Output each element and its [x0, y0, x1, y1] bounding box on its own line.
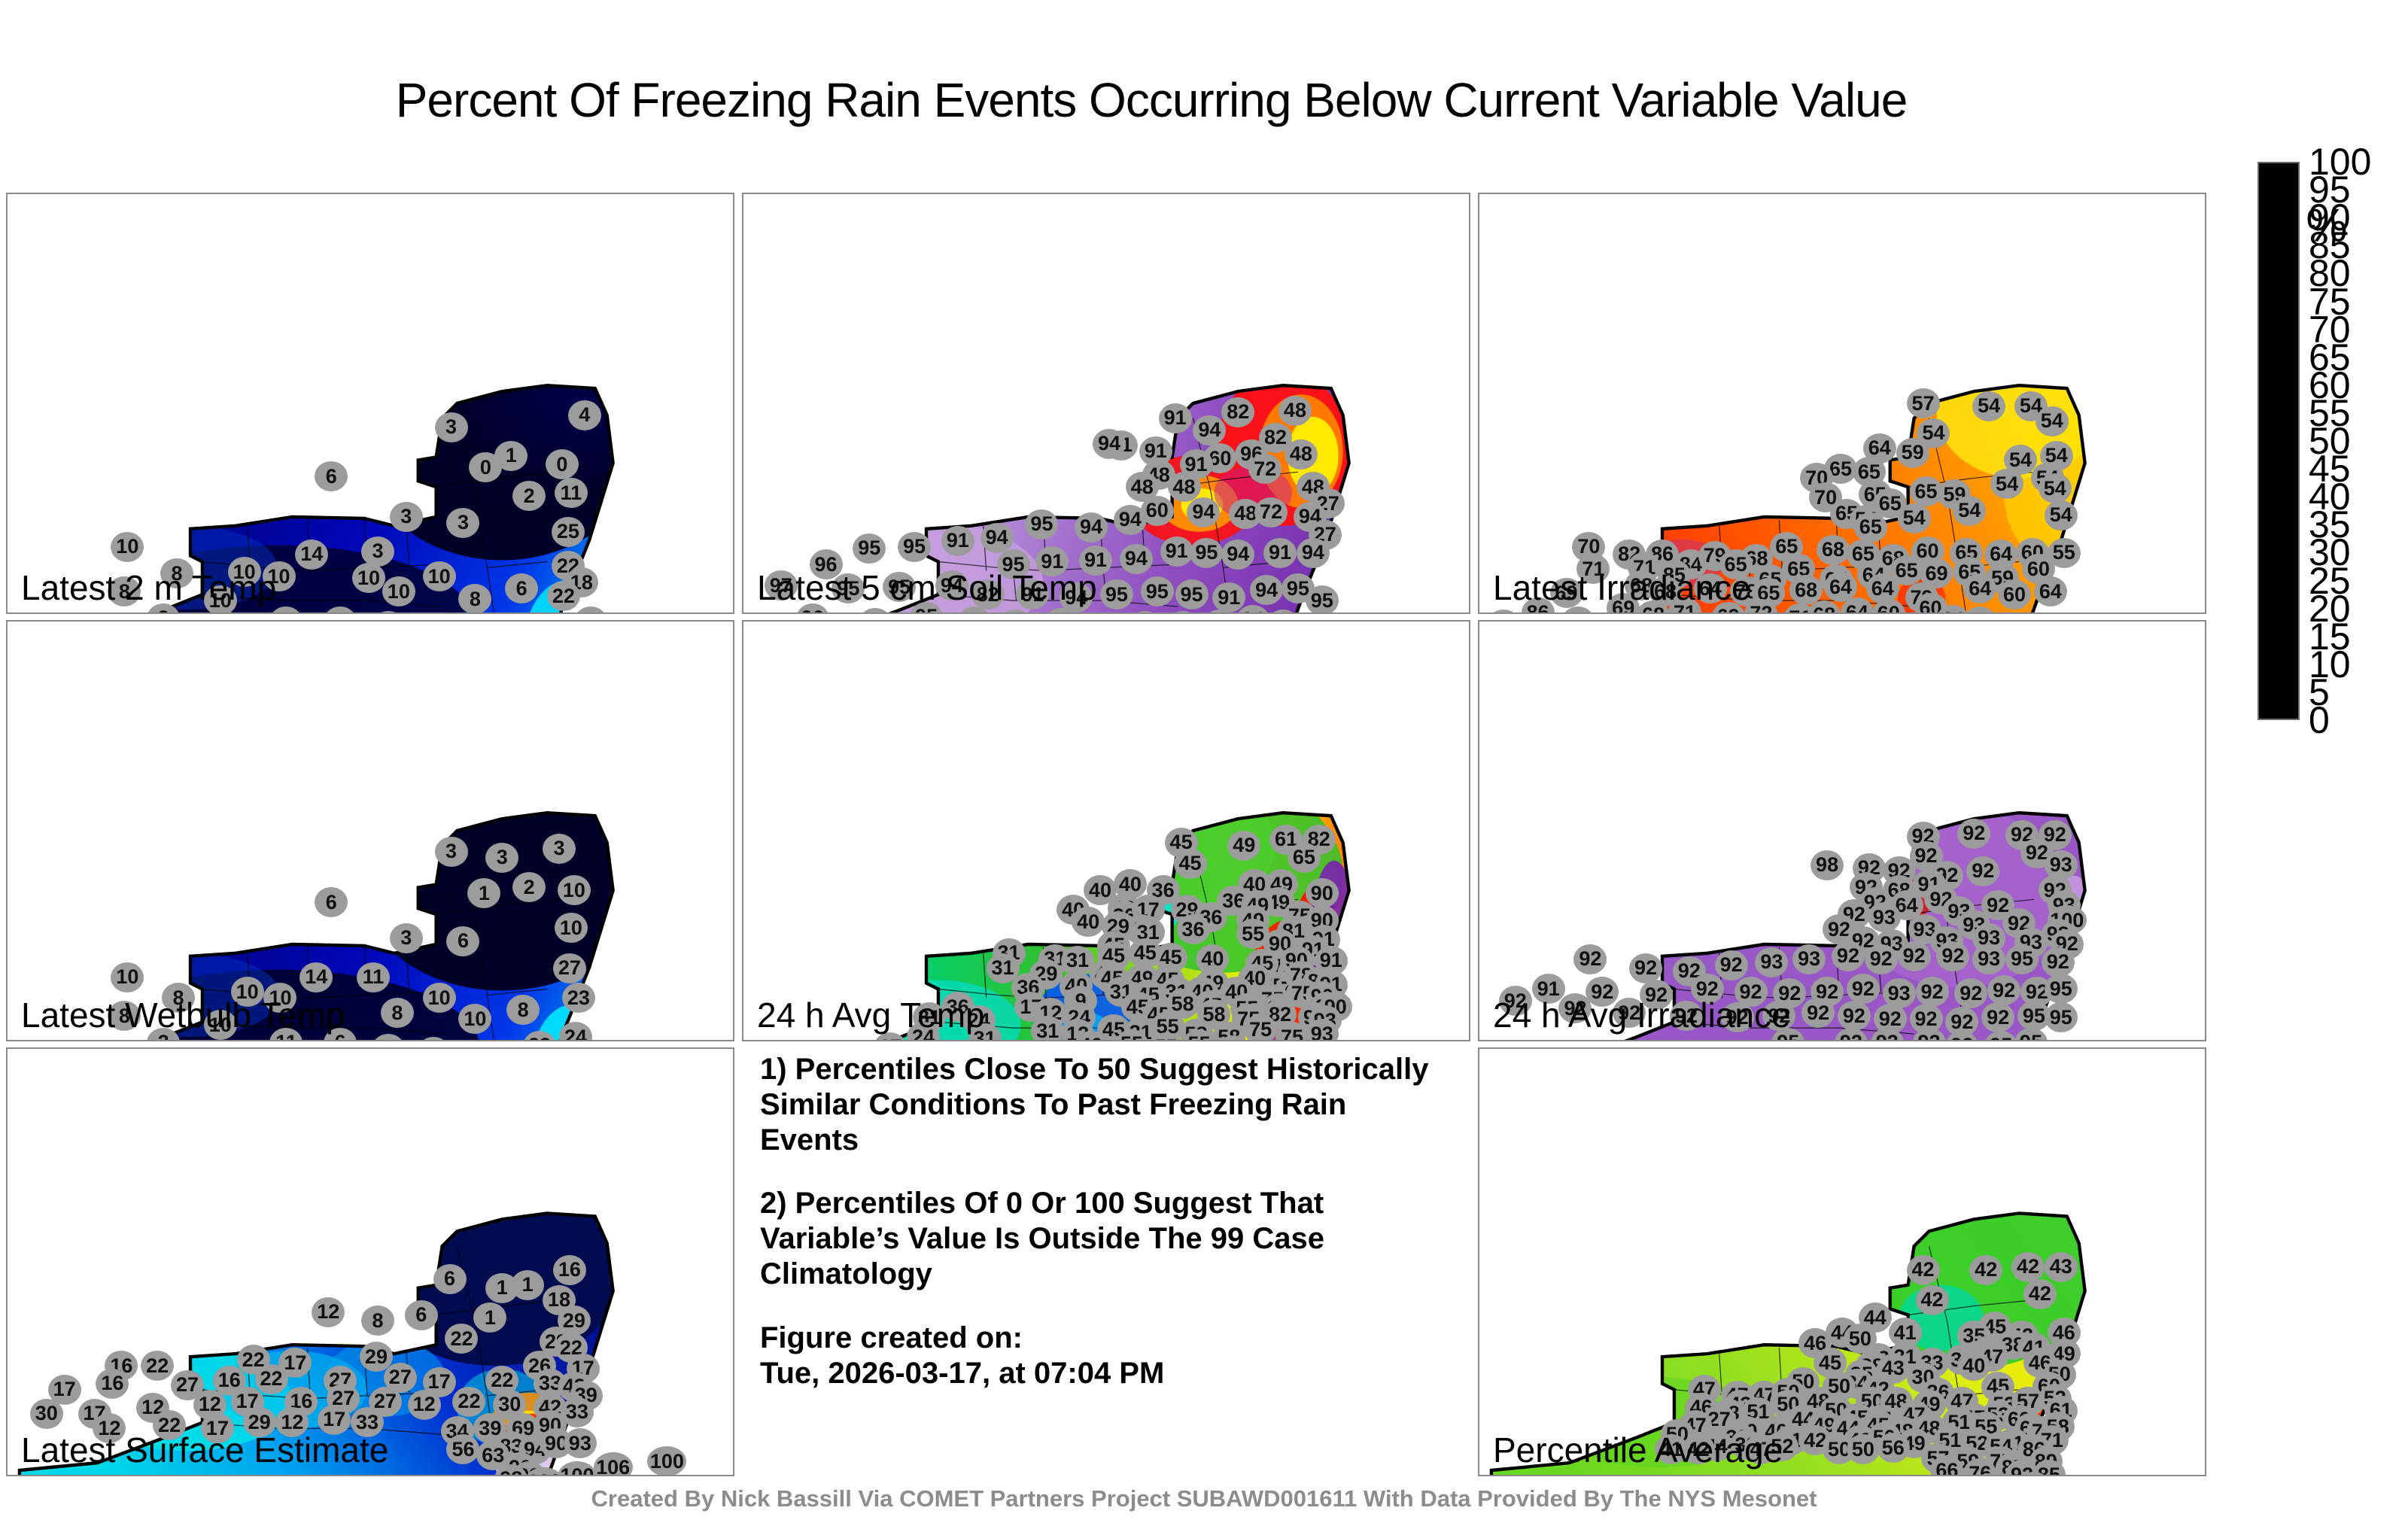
- panel-label-24h-avg-irradiance: 24 h Avg Irradiance: [1493, 995, 1791, 1035]
- station-marker: 94: [1297, 538, 1330, 568]
- panel-label-latest-5cm-soil-temp: Latest 5 cm Soil Temp: [757, 567, 1097, 608]
- station-marker: 6: [433, 1264, 467, 1294]
- station-marker: 18: [573, 1040, 606, 1041]
- station-marker: 91: [1263, 538, 1297, 568]
- station-marker: 57: [1907, 388, 1940, 418]
- station-marker: 48: [1285, 439, 1318, 470]
- station-marker: 8: [361, 1306, 394, 1336]
- map-24h-avg-irradiance: 9292929292929892939292929268919292649293…: [1479, 622, 2205, 1040]
- station-marker: 6: [505, 573, 538, 603]
- station-marker: 92: [1987, 975, 2020, 1005]
- station-marker: 82: [1221, 397, 1254, 427]
- station-marker: 72: [1248, 454, 1282, 484]
- created-on-value: Tue, 2026-03-17, at 07:04 PM: [760, 1357, 1164, 1390]
- station-marker: 94: [1120, 544, 1153, 574]
- station-marker: 11: [357, 962, 390, 992]
- station-marker: 95: [853, 533, 886, 564]
- panel-latest-2m-temp: 4301026113325322101410108101010186228810…: [6, 193, 734, 614]
- station-marker: 16: [553, 1255, 586, 1285]
- station-marker: 95: [1297, 612, 1330, 614]
- station-marker: 92: [1936, 941, 1969, 971]
- station-marker: 23: [562, 983, 595, 1013]
- station-marker: 1: [473, 1302, 506, 1333]
- colorbar: [2257, 162, 2300, 720]
- station-marker: 10: [558, 875, 591, 905]
- station-marker: 8: [505, 612, 538, 614]
- station-marker: 10: [423, 983, 456, 1013]
- station-marker: 3: [361, 536, 394, 567]
- station-marker: 59: [1896, 438, 1929, 468]
- station-marker: 92: [1838, 1001, 1871, 1031]
- station-marker: 14: [299, 962, 333, 992]
- map-24h-avg-temp: 4549618245654040364940904036494940497590…: [743, 622, 1469, 1040]
- station-marker: 95: [898, 532, 931, 562]
- station-marker: 54: [1953, 496, 1986, 526]
- station-marker: 8: [506, 995, 540, 1025]
- station-marker: 95: [2045, 974, 2078, 1004]
- station-marker: 91: [1212, 582, 1245, 612]
- panel-24h-avg-irradiance: 9292929292929892939292929268919292649293…: [1478, 620, 2206, 1041]
- station-marker: 10: [423, 561, 456, 591]
- station-marker: 94: [981, 523, 1014, 553]
- station-marker: 43: [2045, 1252, 2078, 1282]
- panel-percentile-average: 4242424342424445424644413538465040414931…: [1478, 1047, 2206, 1476]
- station-marker: 92: [1954, 978, 1987, 1008]
- map-latest-2m-temp: 4301026113325322101410108101010186228810…: [8, 194, 733, 612]
- station-marker: 95: [1175, 579, 1209, 609]
- station-marker: 40: [1072, 907, 1105, 937]
- station-marker: 82: [1598, 612, 1631, 614]
- station-marker: 3: [435, 837, 468, 867]
- station-marker: 92: [1573, 944, 1607, 974]
- station-marker: 11: [555, 478, 588, 508]
- station-marker: 10: [111, 532, 144, 562]
- map-percentile-average: 4242424342424445424644413538465040414931…: [1479, 1049, 2205, 1475]
- station-marker: 93: [1868, 902, 1901, 932]
- station-marker: 95: [1087, 612, 1120, 614]
- station-marker: 92: [1715, 950, 1748, 980]
- station-marker: 49: [1227, 831, 1260, 861]
- station-marker: 2: [512, 872, 546, 902]
- station-marker: 36: [1177, 914, 1210, 944]
- station-marker: 65: [1288, 843, 1321, 873]
- station-marker: 72: [1254, 497, 1288, 527]
- station-marker: 10: [555, 913, 588, 943]
- station-marker: 94: [1221, 540, 1254, 570]
- station-marker: 14: [295, 540, 328, 570]
- station-marker: 50: [1847, 1434, 1880, 1464]
- station-marker: 60: [1141, 496, 1174, 526]
- station-marker: 94: [1187, 497, 1220, 527]
- station-marker: 54: [2045, 500, 2078, 530]
- station-marker: 68: [1817, 535, 1850, 565]
- station-marker: 3: [390, 502, 423, 532]
- station-marker: 42: [1916, 1285, 1949, 1315]
- station-marker: 42: [2011, 1252, 2045, 1282]
- station-marker: 0: [546, 449, 579, 479]
- station-marker: 94: [1193, 415, 1226, 445]
- station-marker: 1: [494, 441, 528, 471]
- station-marker: 54: [1898, 503, 1931, 533]
- station-marker: 95: [2045, 1002, 2078, 1032]
- map-canvas-6: [1479, 622, 2205, 1040]
- station-marker: 6: [315, 461, 348, 491]
- station-marker: 27: [553, 953, 586, 983]
- map-latest-wetbulb-temp: 3332610136101014111010810827238101082116…: [8, 622, 733, 1040]
- station-marker: 10: [458, 1004, 491, 1034]
- panel-label-latest-surface-estimate: Latest Surface Estimate: [21, 1430, 388, 1470]
- page-title: Percent Of Freezing Rain Events Occurrin…: [0, 72, 2303, 128]
- colorbar-tick-labels: 1009590858075706560555045403530252015105…: [2309, 162, 2399, 720]
- station-marker: 54: [1972, 391, 2005, 421]
- panel-label-percentile-average: Percentile Average: [1493, 1430, 1783, 1470]
- station-marker: 12: [312, 1297, 345, 1327]
- note-2: 2) Percentiles Of 0 Or 100 Suggest That …: [760, 1186, 1452, 1291]
- station-marker: 25: [552, 517, 585, 547]
- station-marker: 3: [446, 508, 479, 538]
- station-marker: 1: [511, 1270, 544, 1300]
- station-marker: 45: [1174, 849, 1207, 879]
- station-marker: 98: [1811, 850, 1844, 880]
- panel-label-latest-2m-temp: Latest 2 m Temp: [21, 567, 276, 608]
- station-marker: 92: [1916, 977, 1949, 1007]
- station-marker: 94: [1093, 429, 1126, 459]
- station-marker: 64: [2034, 576, 2067, 606]
- station-marker: 12: [408, 1390, 441, 1420]
- station-marker: 10: [382, 576, 415, 606]
- notes-block: 1) Percentiles Close To 50 Suggest Histo…: [760, 1052, 1452, 1391]
- station-marker: 94: [1250, 575, 1283, 605]
- station-marker: 42: [1907, 1255, 1940, 1285]
- station-marker: 3: [543, 834, 576, 864]
- station-marker: 54: [2039, 473, 2072, 503]
- station-marker: 54: [1990, 469, 2023, 499]
- note-1: 1) Percentiles Close To 50 Suggest Histo…: [760, 1052, 1452, 1157]
- station-marker: 92: [1957, 819, 1990, 849]
- station-marker: 8: [458, 584, 491, 614]
- station-marker: 95: [1100, 579, 1133, 609]
- colorbar-tick: 0: [2309, 698, 2330, 742]
- station-marker: 4: [568, 400, 601, 430]
- map-latest-irradiance: 5754545454645954655465705465545470656559…: [1479, 194, 2205, 612]
- station-marker: 3: [390, 923, 423, 953]
- station-marker: 22: [547, 581, 580, 611]
- station-marker: 10: [111, 962, 144, 992]
- station-marker: 91: [941, 526, 974, 556]
- station-marker: 100: [647, 1446, 686, 1476]
- station-marker: 22: [452, 1387, 485, 1417]
- panel-latest-wetbulb-temp: 3332610136101014111010810827238101082116…: [6, 620, 734, 1041]
- station-marker: 22: [445, 1324, 478, 1354]
- station-marker: 95: [1306, 585, 1339, 614]
- station-marker: 91: [1159, 403, 1192, 433]
- station-marker: 30: [30, 1399, 63, 1429]
- panel-latest-5cm-soil-temp: 8248919482919194609672914848484848279594…: [742, 193, 1470, 614]
- station-marker: 95: [1025, 509, 1058, 540]
- map-latest-5cm-soil-temp: 8248919482919194609672914848484848279594…: [743, 194, 1469, 612]
- map-latest-surface-estimate: 1661118126298129222216222217292617171627…: [8, 1049, 733, 1475]
- station-marker: 95: [1141, 576, 1174, 606]
- station-marker: 92: [2042, 947, 2075, 977]
- station-marker: 93: [564, 1428, 597, 1458]
- station-marker: 3: [485, 843, 518, 873]
- station-marker: 8: [381, 998, 414, 1028]
- panel-24h-avg-temp: 4549618245654040364940904036494940497590…: [742, 620, 1470, 1041]
- station-marker: 16: [96, 1369, 129, 1399]
- station-marker: 6: [446, 926, 479, 956]
- station-marker: 3: [435, 412, 468, 442]
- created-on-label: Figure created on:: [760, 1321, 1023, 1354]
- station-marker: 94: [1075, 512, 1108, 543]
- station-marker: 60: [1998, 579, 2031, 609]
- station-marker: 92: [1865, 944, 1898, 974]
- station-marker: 1: [467, 878, 500, 908]
- station-marker: 92: [1847, 974, 1880, 1004]
- station-marker: 31: [1031, 1016, 1064, 1041]
- station-marker: 93: [1271, 1040, 1304, 1041]
- footer-credit: Created By Nick Bassill Via COMET Partne…: [0, 1485, 2408, 1512]
- station-marker: 2: [512, 481, 546, 511]
- station-marker: 92: [1898, 941, 1931, 971]
- station-marker: 93: [1792, 944, 1826, 974]
- station-marker: 106: [594, 1452, 633, 1476]
- panel-latest-surface-estimate: 1661118126298129222216222217292617171627…: [6, 1047, 734, 1476]
- station-marker: 56: [446, 1434, 479, 1464]
- station-marker: 93: [1755, 947, 1788, 977]
- station-marker: 48: [1278, 396, 1312, 426]
- station-marker: 42: [2023, 1279, 2057, 1309]
- station-marker: 95: [2005, 944, 2039, 974]
- station-marker: 93: [1972, 944, 2005, 974]
- station-marker: 92: [1966, 856, 1999, 886]
- panel-latest-irradiance: 5754545454645954655465705465545470656559…: [1478, 193, 2206, 614]
- station-marker: 22: [141, 1351, 174, 1381]
- station-marker: 92: [1801, 998, 1835, 1028]
- panel-label-latest-wetbulb-temp: Latest Wetbulb Temp: [21, 995, 345, 1035]
- station-marker: 92: [1629, 953, 1662, 983]
- station-marker: 65: [1854, 512, 1887, 543]
- station-marker: 6: [315, 887, 348, 917]
- station-marker: 95: [1190, 538, 1223, 568]
- station-marker: 42: [1969, 1255, 2002, 1285]
- panel-label-latest-irradiance: Latest Irradiance: [1493, 567, 1751, 608]
- station-marker: 54: [2036, 406, 2069, 436]
- station-marker: 56: [1877, 1433, 1910, 1463]
- station-marker: 92: [1832, 941, 1865, 971]
- station-marker: 6: [405, 1300, 438, 1330]
- station-marker: 10: [352, 563, 385, 593]
- station-marker: 64: [1963, 573, 1996, 603]
- panel-label-24h-avg-temp: 24 h Avg Temp: [757, 995, 985, 1035]
- station-marker: 92: [1981, 1002, 2014, 1032]
- station-marker: 91: [1160, 536, 1193, 567]
- station-marker: 22: [255, 1364, 288, 1394]
- station-marker: 48: [1168, 472, 1201, 502]
